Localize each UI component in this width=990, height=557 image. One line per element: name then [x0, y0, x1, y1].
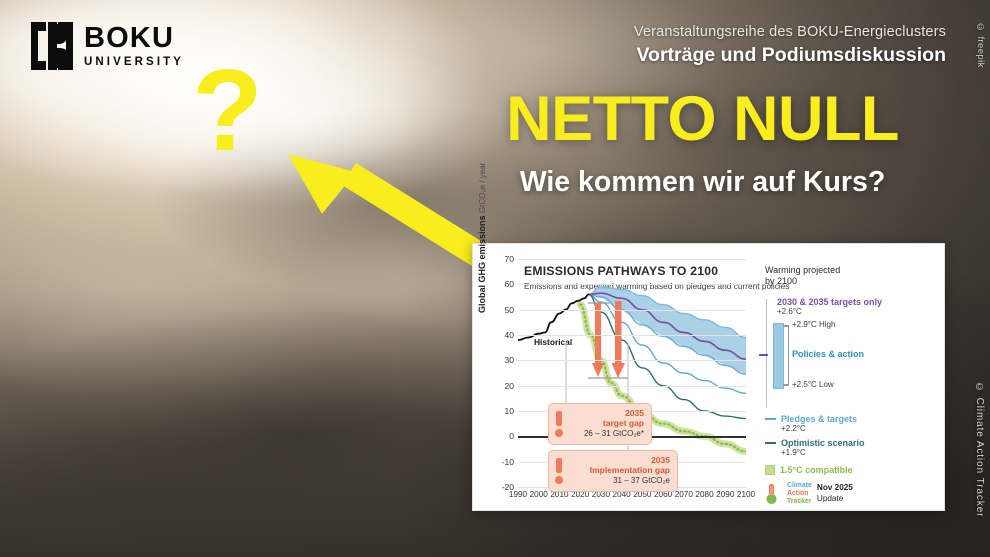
target-gap-kind: target gap	[569, 418, 644, 428]
boku-logo-subtitle: UNIVERSITY	[84, 57, 184, 69]
y-axis-tick: 10	[505, 406, 514, 416]
target-gap-value: 26 – 31 GtCO₂e*	[569, 429, 644, 439]
gridline	[518, 386, 746, 387]
thermometer-icon	[765, 483, 782, 505]
x-axis-tick: 2070	[675, 490, 693, 499]
page-subtitle: Wie kommen wir auf Kurs?	[460, 166, 945, 199]
implementation-gap-year: 2035	[569, 455, 670, 465]
y-axis-tick: 70	[505, 254, 514, 264]
legend-optimistic-label: Optimistic scenario	[781, 438, 865, 448]
chart-y-axis-label: Global GHG emissions GtCO₂e / year	[477, 163, 487, 313]
legend-15c-label: 1.5°C compatible	[780, 465, 853, 475]
gridline	[518, 310, 746, 311]
legend-high-label: +2.9°C High	[792, 320, 835, 329]
legend-item-15c: 1.5°C compatible	[765, 465, 933, 475]
chart-credit: © Climate Action Tracker	[974, 382, 985, 517]
implementation-gap-value: 31 – 37 GtCO₂e	[569, 476, 670, 486]
cat-word-action: Action	[787, 490, 812, 498]
chart-update-date: Nov 2025	[817, 483, 853, 492]
target-gap-year: 2035	[569, 408, 644, 418]
gridline	[518, 360, 746, 361]
legend-dash-icon	[765, 442, 776, 444]
x-axis-tick: 2090	[716, 490, 734, 499]
historical-label: Historical	[534, 337, 572, 347]
y-axis-tick: 50	[505, 305, 514, 315]
x-axis-tick: 1990	[509, 490, 527, 499]
event-header: Veranstaltungsreihe des BOKU-Energieclus…	[634, 24, 946, 67]
series-historical	[518, 295, 589, 341]
yellow-arrow-icon	[270, 150, 485, 270]
climate-action-tracker-logo: Climate Action Tracker Nov 2025 Update	[765, 482, 933, 506]
legend-item-optimistic: Optimistic scenario	[765, 438, 933, 448]
legend-pledges-value: +2.2°C	[781, 424, 933, 433]
legend-pledges-label: Pledges & targets	[781, 414, 857, 424]
y-axis-tick: -10	[502, 457, 514, 467]
gridline	[518, 335, 746, 336]
legend-square-icon	[765, 465, 775, 475]
legend-targets-only-value: +2.6°C	[777, 307, 933, 316]
legend-policies-label: Policies & action	[792, 349, 864, 359]
x-axis-tick: 2100	[737, 490, 755, 499]
legend-optimistic-value: +1.9°C	[781, 448, 933, 457]
page-title: NETTO NULL	[460, 88, 945, 151]
boku-logo: BOKU UNIVERSITY	[31, 22, 184, 70]
legend-targets-only-label: 2030 & 2035 targets only	[777, 297, 933, 308]
question-mark-graphic: ?	[192, 52, 263, 168]
x-axis-tick: 2000	[530, 490, 548, 499]
boku-logo-wordmark: BOKU	[84, 24, 184, 53]
y-axis-tick: 20	[505, 381, 514, 391]
implementation-gap-kind: Implementation gap	[569, 465, 670, 475]
y-axis-tick: 60	[505, 279, 514, 289]
legend-policies-marker	[759, 354, 768, 356]
warning-icon	[555, 458, 563, 482]
x-axis-tick: 2080	[695, 490, 713, 499]
warning-icon	[555, 411, 563, 435]
legend-policies-band	[773, 323, 784, 389]
chart-legend: Warming projected by 2100 2030 & 2035 ta…	[765, 265, 933, 506]
legend-heading: Warming projected by 2100	[765, 265, 933, 288]
y-axis-tick: 0	[509, 431, 514, 441]
image-credit: © freepik	[975, 22, 986, 68]
legend-dash-icon	[765, 418, 776, 420]
emissions-chart-panel: EMISSIONS PATHWAYS TO 2100 Emissions and…	[472, 243, 945, 511]
y-axis-tick: 40	[505, 330, 514, 340]
event-format-title: Vorträge und Podiumsdiskussion	[634, 44, 946, 67]
event-series-kicker: Veranstaltungsreihe des BOKU-Energieclus…	[634, 24, 946, 40]
cat-word-tracker: Tracker	[787, 498, 812, 506]
boku-logo-mark-icon	[31, 22, 73, 70]
y-axis-tick: 30	[505, 355, 514, 365]
legend-low-label: +2.5°C Low	[792, 380, 834, 389]
cat-word-climate: Climate	[787, 482, 812, 490]
gridline	[518, 259, 746, 260]
callout-implementation-gap: 2035 Implementation gap 31 – 37 GtCO₂e	[548, 450, 678, 492]
gridline	[518, 284, 746, 285]
poster-canvas: BOKU UNIVERSITY Veranstaltungsreihe des …	[0, 0, 990, 557]
callout-target-gap: 2035 target gap 26 – 31 GtCO₂e*	[548, 403, 652, 445]
legend-item-pledges: Pledges & targets	[765, 414, 933, 424]
chart-update-word: Update	[817, 494, 853, 504]
